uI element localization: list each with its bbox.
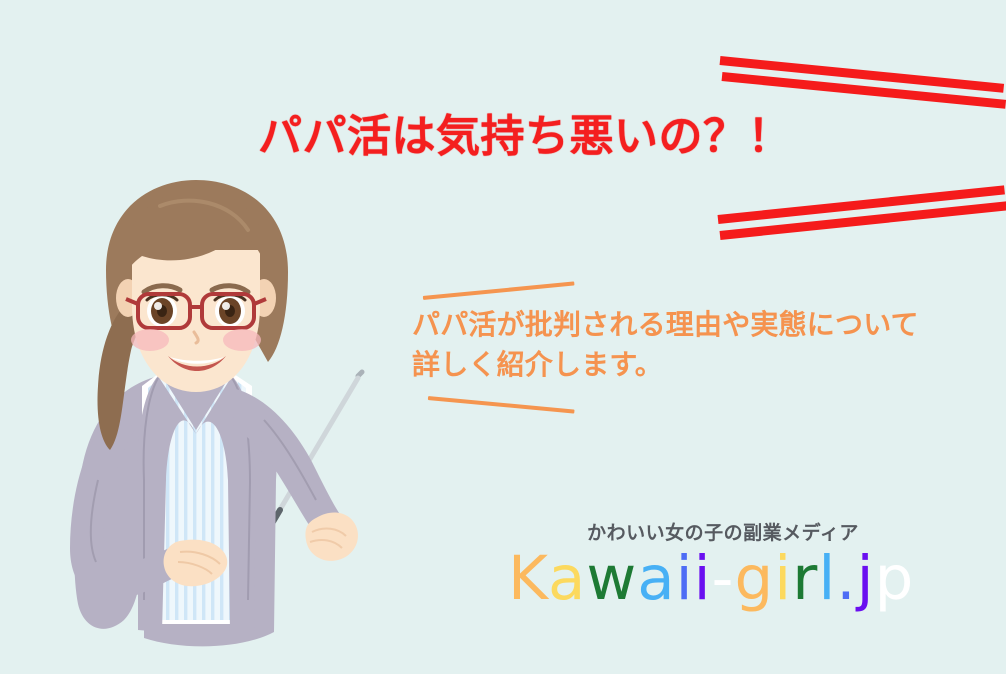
logo-letter-7: g: [735, 543, 775, 614]
hand-right: [305, 512, 358, 560]
orange-accent-line-above-subtitle: [423, 281, 575, 300]
logo-letter-3: a: [637, 543, 675, 614]
logo-letter-5: i: [694, 543, 712, 614]
eye-right: [215, 295, 245, 327]
logo-wordmark: Kawaii-girl.jp: [508, 547, 938, 611]
logo-letter-9: r: [792, 543, 818, 614]
logo-letter-1: a: [548, 543, 586, 614]
subtitle-text: パパ活が批判される理由や実態について 詳しく紹介します。: [412, 305, 972, 385]
logo-letter-10: l: [818, 543, 836, 614]
subtitle-line-2: 詳しく紹介します。: [412, 345, 972, 385]
logo-tagline: かわいい女の子の副業メディア: [508, 518, 938, 545]
subtitle-line-1: パパ活が批判される理由や実態について: [412, 305, 972, 345]
character-illustration: [40, 180, 420, 674]
logo-letter-0: K: [508, 543, 548, 614]
logo-letter-11: .: [836, 543, 856, 614]
logo-letter-2: w: [586, 543, 637, 614]
headline-title: パパ活は気持ち悪いの？！: [258, 112, 788, 163]
blush-right: [223, 329, 261, 351]
eye-left: [147, 295, 177, 327]
logo-letter-4: i: [676, 543, 694, 614]
logo-letter-6: -: [712, 543, 735, 614]
logo-letter-8: i: [774, 543, 792, 614]
logo-letter-12: j: [857, 543, 875, 614]
orange-accent-line-below-subtitle: [428, 396, 575, 414]
logo-letter-13: p: [875, 543, 915, 614]
blush-left: [131, 329, 169, 351]
site-logo[interactable]: かわいい女の子の副業メディア Kawaii-girl.jp: [508, 518, 938, 611]
banner-canvas: パパ活は気持ち悪いの？！ パパ活が批判される理由や実態について 詳しく紹介します…: [0, 0, 1006, 674]
